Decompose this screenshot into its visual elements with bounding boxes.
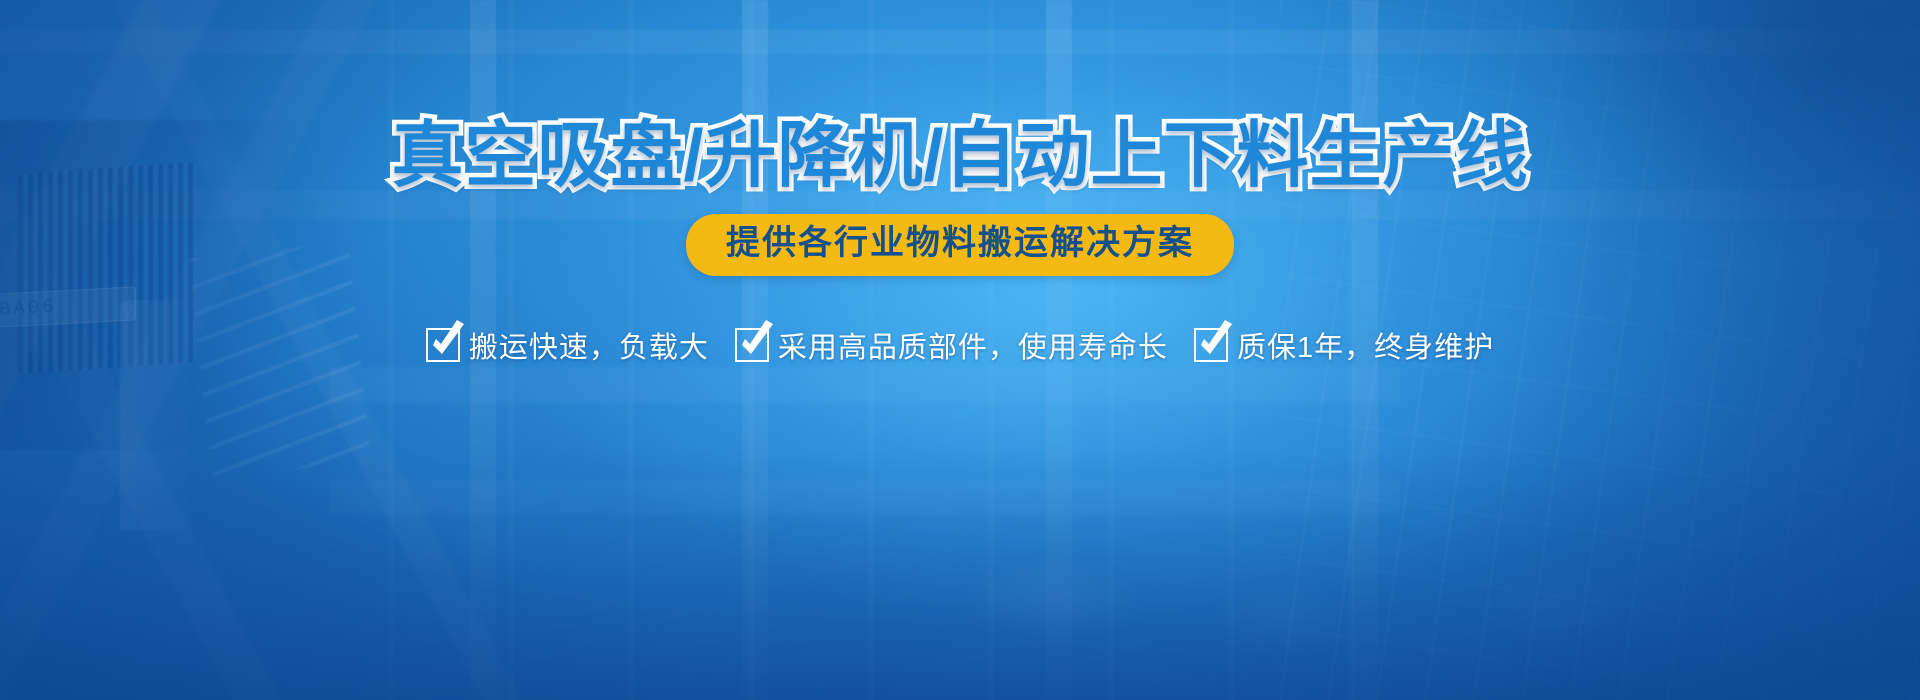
feature-label: 质保1年，终身维护 xyxy=(1237,324,1494,366)
feature-label: 搬运快速，负载大 xyxy=(469,324,709,366)
hero-banner: BA06 真空吸盘/升降机/自动上下料生产线 提供各行业物料搬运解决方案 搬运快… xyxy=(0,0,1920,700)
feature-label: 采用高品质部件，使用寿命长 xyxy=(778,324,1168,366)
check-icon xyxy=(735,328,769,362)
banner-subtitle-pill: 提供各行业物料搬运解决方案 xyxy=(686,214,1234,276)
banner-title: 真空吸盘/升降机/自动上下料生产线 xyxy=(391,120,1528,192)
feature-item: 搬运快速，负载大 xyxy=(426,324,709,366)
banner-content: 真空吸盘/升降机/自动上下料生产线 提供各行业物料搬运解决方案 搬运快速，负载大 xyxy=(0,0,1920,700)
check-icon xyxy=(1194,328,1228,362)
feature-item: 质保1年，终身维护 xyxy=(1194,324,1494,366)
feature-list: 搬运快速，负载大 采用高品质部件，使用寿命长 质保1年，终身维护 xyxy=(426,324,1494,366)
banner-subtitle: 提供各行业物料搬运解决方案 xyxy=(726,224,1194,263)
feature-item: 采用高品质部件，使用寿命长 xyxy=(735,324,1168,366)
check-icon xyxy=(426,328,460,362)
